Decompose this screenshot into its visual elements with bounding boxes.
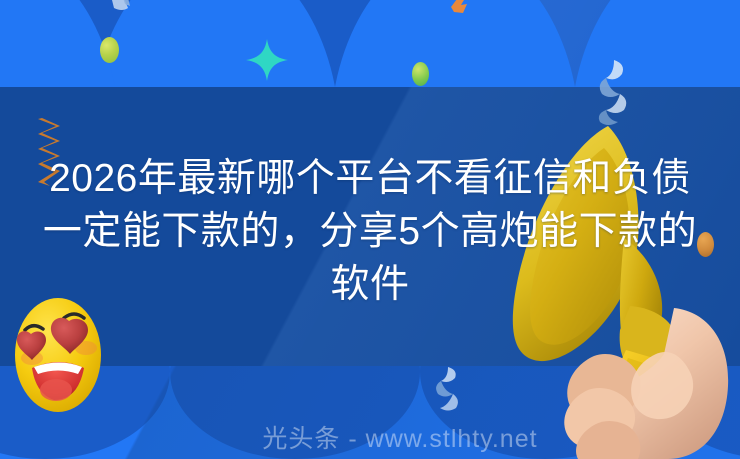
promo-banner: 2026年最新哪个平台不看征信和负债 一定能下款的，分享5个高炮能下款的 软件 … bbox=[0, 0, 740, 459]
site-watermark: 光头条 - www.stlhty.net bbox=[0, 419, 740, 455]
title-line-1: 2026年最新哪个平台不看征信和负债 bbox=[0, 152, 740, 205]
blue-spiral-ribbon-icon-a bbox=[108, 0, 134, 16]
orange-flake-confetti-icon bbox=[450, 0, 468, 14]
green-ellipse-confetti-icon-2 bbox=[412, 62, 429, 86]
title-line-3: 软件 bbox=[0, 258, 740, 311]
title-line-2: 一定能下款的，分享5个高炮能下款的 bbox=[0, 205, 740, 258]
blue-spiral-ribbon-icon-c bbox=[430, 366, 466, 416]
green-ellipse-confetti-icon bbox=[100, 37, 119, 63]
heart-eyes-emoji-icon bbox=[12, 296, 104, 414]
page-title: 2026年最新哪个平台不看征信和负债 一定能下款的，分享5个高炮能下款的 软件 bbox=[0, 152, 740, 311]
teal-star-confetti-icon bbox=[245, 38, 289, 82]
